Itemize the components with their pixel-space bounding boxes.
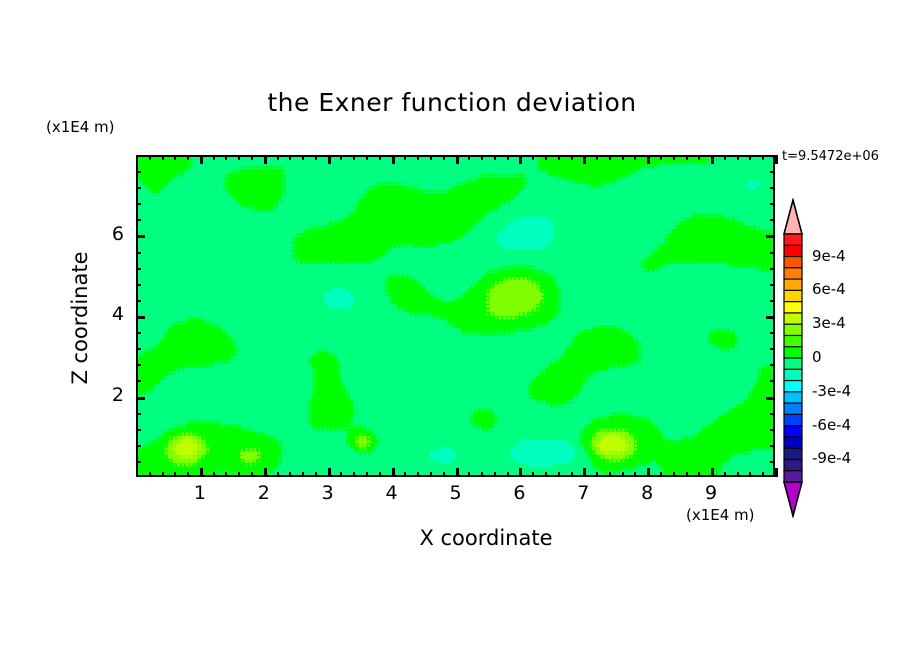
colorbar-scale xyxy=(776,198,816,518)
tick-mark xyxy=(392,468,395,477)
tick-mark xyxy=(136,300,141,302)
tick-mark xyxy=(136,364,141,366)
tick-mark xyxy=(571,472,573,477)
tick-mark xyxy=(264,155,267,164)
tick-mark xyxy=(766,235,775,238)
tick-mark xyxy=(770,332,775,334)
tick-mark xyxy=(686,472,688,477)
tick-mark xyxy=(507,472,509,477)
tick-mark xyxy=(770,364,775,366)
tick-mark xyxy=(213,472,215,477)
colorbar-label: -6e-4 xyxy=(812,416,851,434)
tick-mark xyxy=(302,472,304,477)
tick-mark xyxy=(149,155,151,160)
tick-mark xyxy=(328,468,331,477)
tick-mark xyxy=(289,155,291,160)
tick-mark xyxy=(238,155,240,160)
y-axis-title: Z coordinate xyxy=(68,218,92,418)
x-tick-label: 6 xyxy=(499,482,539,504)
tick-mark xyxy=(187,155,189,160)
tick-mark xyxy=(443,472,445,477)
tick-mark xyxy=(136,203,141,205)
colorbar xyxy=(776,198,816,518)
tick-mark xyxy=(251,155,253,160)
tick-mark xyxy=(379,472,381,477)
colorbar-label: 3e-4 xyxy=(812,314,846,332)
x-tick-label: 9 xyxy=(691,482,731,504)
tick-mark xyxy=(468,155,470,160)
tick-mark xyxy=(770,413,775,415)
tick-mark xyxy=(634,155,636,160)
tick-mark xyxy=(770,252,775,254)
y-tick-label: 4 xyxy=(96,303,124,325)
tick-mark xyxy=(519,155,522,164)
tick-mark xyxy=(136,252,141,254)
tick-mark xyxy=(417,472,419,477)
tick-mark xyxy=(136,268,141,270)
y-tick-label: 6 xyxy=(96,223,124,245)
tick-mark xyxy=(315,155,317,160)
colorbar-label: -3e-4 xyxy=(812,382,851,400)
tick-mark xyxy=(698,472,700,477)
tick-mark xyxy=(770,203,775,205)
tick-mark xyxy=(770,429,775,431)
tick-mark xyxy=(225,472,227,477)
x-tick-label: 4 xyxy=(372,482,412,504)
x-axis-title: X coordinate xyxy=(286,526,686,550)
tick-mark xyxy=(749,472,751,477)
tick-mark xyxy=(532,472,534,477)
page-title: the Exner function deviation xyxy=(0,88,904,117)
tick-mark xyxy=(277,155,279,160)
tick-mark xyxy=(770,348,775,350)
tick-mark xyxy=(762,155,764,160)
tick-mark xyxy=(558,472,560,477)
tick-mark xyxy=(596,155,598,160)
tick-mark xyxy=(404,472,406,477)
colorbar-label: 6e-4 xyxy=(812,280,846,298)
tick-mark xyxy=(200,468,203,477)
tick-mark xyxy=(174,472,176,477)
tick-mark xyxy=(766,397,775,400)
contour-plot-area xyxy=(136,155,775,477)
colorbar-label: 0 xyxy=(812,348,822,366)
tick-mark xyxy=(136,219,141,221)
tick-mark xyxy=(353,472,355,477)
tick-mark xyxy=(622,472,624,477)
tick-mark xyxy=(468,472,470,477)
colorbar-label: -9e-4 xyxy=(812,449,851,467)
tick-mark xyxy=(507,155,509,160)
tick-mark xyxy=(328,155,331,164)
tick-mark xyxy=(443,155,445,160)
tick-mark xyxy=(264,468,267,477)
y-axis-unit-label: (x1E4 m) xyxy=(46,118,115,136)
tick-mark xyxy=(532,155,534,160)
tick-mark xyxy=(724,155,726,160)
x-tick-label: 1 xyxy=(180,482,220,504)
tick-mark xyxy=(770,171,775,173)
tick-mark xyxy=(315,472,317,477)
x-tick-label: 5 xyxy=(436,482,476,504)
tick-mark xyxy=(225,155,227,160)
tick-mark xyxy=(136,187,141,189)
tick-mark xyxy=(340,472,342,477)
tick-mark xyxy=(136,235,145,238)
tick-mark xyxy=(251,472,253,477)
tick-mark xyxy=(456,468,459,477)
tick-mark xyxy=(737,155,739,160)
tick-mark xyxy=(686,155,688,160)
tick-mark xyxy=(770,219,775,221)
tick-mark xyxy=(571,155,573,160)
tick-mark xyxy=(609,472,611,477)
x-tick-label: 2 xyxy=(244,482,284,504)
tick-mark xyxy=(481,155,483,160)
tick-mark xyxy=(770,284,775,286)
tick-mark xyxy=(136,348,141,350)
x-tick-label: 3 xyxy=(308,482,348,504)
tick-mark xyxy=(622,155,624,160)
tick-mark xyxy=(519,468,522,477)
tick-mark xyxy=(634,472,636,477)
tick-mark xyxy=(340,155,342,160)
tick-mark xyxy=(737,472,739,477)
tick-mark xyxy=(238,472,240,477)
tick-mark xyxy=(136,332,141,334)
tick-mark xyxy=(162,472,164,477)
tick-mark xyxy=(596,472,598,477)
tick-mark xyxy=(545,472,547,477)
tick-mark xyxy=(136,284,141,286)
tick-mark xyxy=(136,429,141,431)
tick-mark xyxy=(647,155,650,164)
tick-mark xyxy=(609,155,611,160)
contour-field xyxy=(138,157,773,475)
tick-mark xyxy=(711,468,714,477)
tick-mark xyxy=(366,472,368,477)
tick-mark xyxy=(749,155,751,160)
tick-mark xyxy=(673,155,675,160)
tick-mark xyxy=(136,445,141,447)
tick-mark xyxy=(762,472,764,477)
tick-mark xyxy=(724,472,726,477)
tick-mark xyxy=(187,472,189,477)
tick-mark xyxy=(136,461,141,463)
tick-mark xyxy=(430,155,432,160)
tick-mark xyxy=(136,413,141,415)
tick-mark xyxy=(162,155,164,160)
tick-mark xyxy=(481,472,483,477)
tick-mark xyxy=(136,171,141,173)
tick-mark xyxy=(353,155,355,160)
tick-mark xyxy=(770,445,775,447)
tick-mark xyxy=(660,472,662,477)
tick-mark xyxy=(673,472,675,477)
tick-mark xyxy=(558,155,560,160)
tick-mark xyxy=(660,155,662,160)
tick-mark xyxy=(770,187,775,189)
tick-mark xyxy=(366,155,368,160)
tick-mark xyxy=(213,155,215,160)
tick-mark xyxy=(770,461,775,463)
y-tick-label: 2 xyxy=(96,384,124,406)
colorbar-label: 9e-4 xyxy=(812,247,846,265)
tick-mark xyxy=(289,472,291,477)
tick-mark xyxy=(136,380,141,382)
tick-mark xyxy=(392,155,395,164)
tick-mark xyxy=(174,155,176,160)
tick-mark xyxy=(404,155,406,160)
tick-mark xyxy=(698,155,700,160)
tick-mark xyxy=(136,397,145,400)
tick-mark xyxy=(302,155,304,160)
tick-mark xyxy=(379,155,381,160)
tick-mark xyxy=(770,380,775,382)
tick-mark xyxy=(456,155,459,164)
timestamp-annotation: t=9.5472e+06 xyxy=(782,149,879,164)
tick-mark xyxy=(417,155,419,160)
tick-mark xyxy=(149,472,151,477)
x-tick-label: 7 xyxy=(563,482,603,504)
tick-mark xyxy=(136,316,145,319)
tick-mark xyxy=(583,468,586,477)
tick-mark xyxy=(494,155,496,160)
tick-mark xyxy=(647,468,650,477)
tick-mark xyxy=(430,472,432,477)
x-axis-unit-label: (x1E4 m) xyxy=(686,506,755,524)
tick-mark xyxy=(770,268,775,270)
tick-mark xyxy=(766,316,775,319)
tick-mark xyxy=(545,155,547,160)
x-tick-label: 8 xyxy=(627,482,667,504)
tick-mark xyxy=(775,155,778,164)
tick-mark xyxy=(711,155,714,164)
tick-mark xyxy=(277,472,279,477)
tick-mark xyxy=(583,155,586,164)
tick-mark xyxy=(770,300,775,302)
tick-mark xyxy=(200,155,203,164)
tick-mark xyxy=(494,472,496,477)
